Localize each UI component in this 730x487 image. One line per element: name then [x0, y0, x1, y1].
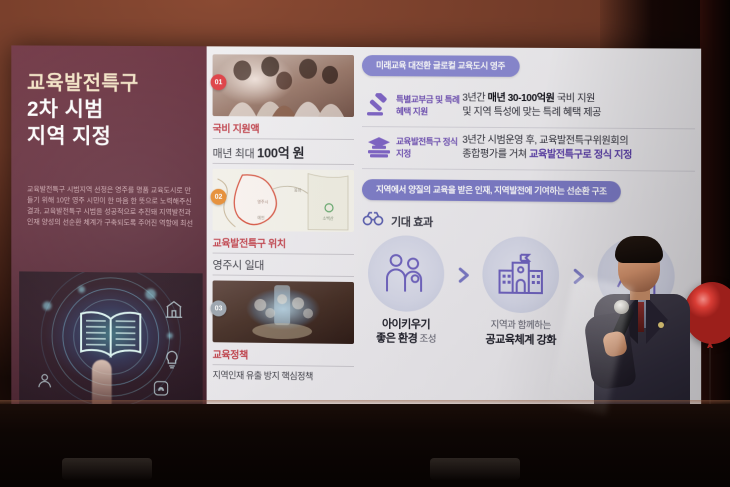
- presenter-hair: [615, 236, 663, 263]
- media-caption-title-2: 교육발전특구 위치: [213, 235, 354, 251]
- person-icon: [35, 371, 55, 391]
- slide-title-line1: 교육발전특구: [27, 71, 197, 97]
- effect-heading-text: 기대 효과: [391, 213, 433, 229]
- award-photo-figures: [213, 280, 354, 344]
- value-seg: 및 지역 특성에 맞는 특례 혜택 제공: [462, 107, 601, 119]
- banner-bottom: 지역에서 양질의 교육을 받은 인재, 지역발전에 기여하는 선순환 구조: [362, 179, 621, 202]
- slide-title-panel: 교육발전특구 2차 시범 지역 지정 교육발전특구 시범지역 선정은 영주를 명…: [11, 45, 206, 407]
- building-icon: [163, 299, 185, 321]
- media-column: 01 국비 지원액 매년 최대 100억 원: [213, 54, 354, 388]
- flow-caption: 아이키우기 좋은 환경 조성: [362, 317, 450, 347]
- banner-top: 미래교육 대전환 글로컬 교육도시 영주: [362, 55, 519, 77]
- students-photo: [213, 54, 354, 117]
- chevron-right-icon: [569, 267, 587, 285]
- info-row-label: 교육발전특구 정식 지정: [396, 135, 462, 160]
- presenter-lapel-pin: [658, 322, 664, 328]
- slide-title-line3: 지역 지정: [27, 123, 197, 151]
- svg-text:예천: 예천: [257, 215, 265, 220]
- value-seg: 3년간: [462, 93, 487, 104]
- caption-divider: [213, 274, 354, 277]
- slide-title-line2: 2차 시범: [27, 96, 197, 124]
- flow-step-2: 지역과 함께하는 공교육체계 강화: [476, 236, 565, 348]
- media-caption-value-3: 지역인재 유출 방지 핵심정책: [213, 368, 354, 383]
- caption-divider: [213, 163, 354, 165]
- info-row-value: 3년간 시범운영 후, 교육발전특구위원회의 종합평가를 거쳐 교육발전특구로 …: [462, 134, 695, 164]
- glow-spark: [43, 301, 52, 310]
- slide-title: 교육발전특구 2차 시범 지역 지정: [27, 71, 197, 151]
- floor-light-1: [62, 458, 152, 480]
- media-card-3: 03 교육정책 지역인재 유출 방지 핵심정책: [213, 280, 354, 383]
- svg-text:영주시: 영주시: [257, 199, 268, 204]
- value-highlight: 교육발전특구로 정식 지정: [529, 149, 632, 161]
- media-caption-title-1: 국비 지원액: [213, 120, 354, 136]
- glowing-book-graphic: [19, 271, 203, 407]
- region-map-image: 소백산 영주시 봉화 예천: [213, 169, 354, 232]
- media-caption-value-1: 매년 최대 100억 원: [213, 142, 354, 162]
- effect-heading-row: 기대 효과: [362, 211, 695, 234]
- caption-divider: [213, 138, 354, 140]
- caption-divider: [213, 364, 354, 367]
- value-strong: 매년 30-100억원: [488, 93, 555, 104]
- students-photo-figures: [213, 54, 354, 117]
- map-graphic: 소백산 영주시 봉화 예천: [213, 169, 354, 232]
- value-seg: 국비 지원: [555, 93, 595, 104]
- info-row: 특별교부금 및 특례 혜택 지원 3년간 매년 30-100억원 국비 지원 및…: [362, 85, 695, 129]
- flow-circle: [482, 236, 559, 313]
- gavel-icon: [362, 93, 396, 117]
- info-row-label: 특별교부금 및 특례 혜택 지원: [396, 93, 462, 117]
- media-card-2: 소백산 영주시 봉화 예천 02 교육발전특구 위치 영주시 일대: [213, 169, 354, 277]
- flow-arrow-1: [450, 236, 476, 284]
- media-card-1: 01 국비 지원액 매년 최대 100억 원: [213, 54, 354, 165]
- value-seg: 3년간 시범운영 후, 교육발전특구위원회의: [462, 135, 628, 147]
- floor-light-2: [430, 458, 520, 480]
- fingerprint-icon: [151, 378, 171, 398]
- info-row-list: 특별교부금 및 특례 혜택 지원 3년간 매년 30-100억원 국비 지원 및…: [362, 85, 695, 172]
- school-building-icon: [496, 252, 546, 297]
- family-icon: [382, 251, 430, 296]
- flow-line2: 좋은 환경 조성: [362, 331, 450, 347]
- glow-spark: [145, 289, 156, 300]
- svg-text:봉화: 봉화: [294, 187, 302, 192]
- binoculars-icon: [362, 211, 384, 231]
- media-caption-value-2: 영주시 일대: [213, 257, 354, 274]
- caption-divider: [213, 253, 354, 255]
- award-ceremony-photo: [213, 280, 354, 344]
- open-book-icon: [74, 307, 147, 362]
- glow-spark: [167, 333, 173, 339]
- microphone-icon: [614, 300, 629, 314]
- info-row-value: 3년간 매년 30-100억원 국비 지원 및 지역 특성에 맞는 특례 혜택 …: [462, 92, 695, 122]
- flow-circle: [368, 235, 444, 312]
- banner-bottom-wrap: 지역에서 양질의 교육을 받은 인재, 지역발전에 기여하는 선순환 구조: [362, 179, 695, 203]
- svg-text:소백산: 소백산: [323, 216, 334, 221]
- photo-scene: 교육발전특구 2차 시범 지역 지정 교육발전특구 시범지역 선정은 영주를 명…: [0, 0, 730, 487]
- media-badge-01: 01: [211, 74, 227, 90]
- flow-line1: 지역과 함께하는: [476, 318, 565, 333]
- graduation-books-icon: [362, 135, 396, 159]
- value-seg: 종합평가를 거쳐: [462, 149, 529, 161]
- lightbulb-icon: [161, 349, 183, 371]
- media-badge-03: 03: [211, 300, 227, 316]
- slide-body-text: 교육발전특구 시범지역 선정은 영주를 명품 교육도시로 만들기 위해 10만 …: [27, 184, 197, 229]
- flow-caption: 지역과 함께하는 공교육체계 강화: [476, 318, 565, 347]
- flow-line1: 아이키우기: [362, 317, 450, 332]
- info-row: 교육발전특구 정식 지정 3년간 시범운영 후, 교육발전특구위원회의 종합평가…: [362, 127, 695, 172]
- flow-line2: 공교육체계 강화: [476, 333, 565, 348]
- media-caption-title-3: 교육정책: [213, 346, 354, 363]
- glow-spark: [78, 286, 85, 293]
- flow-step-1: 아이키우기 좋은 환경 조성: [362, 235, 450, 347]
- media-badge-02: 02: [211, 189, 227, 205]
- chevron-right-icon: [454, 266, 472, 284]
